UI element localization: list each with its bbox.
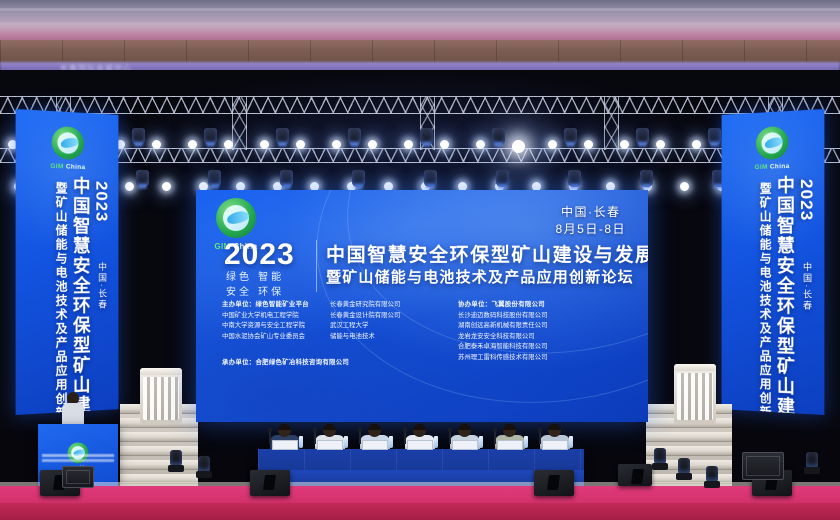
ceiling-beam [0, 8, 840, 11]
logo-text: GIM China [751, 162, 793, 171]
spotlight [260, 140, 269, 149]
spotlight [404, 140, 413, 149]
vertical-banner-left: GIM China 2023 中国智慧安全环保型矿山建设与发展大会 中国·长春 … [16, 109, 119, 415]
moving-head-light [276, 128, 289, 145]
co-organizer-item: 长沙迪迈数码科技股份有限公司 [458, 311, 547, 322]
spotlight [620, 140, 629, 149]
host-organizer-item: 储能与电池技术 [330, 332, 400, 343]
screen-slogan: 绿色 智能 安全 环保 [226, 270, 308, 300]
water-bottle [569, 436, 573, 448]
panelist-hair [278, 424, 291, 430]
moving-head-light [348, 128, 361, 145]
water-bottle [524, 436, 528, 448]
floor-moving-light [676, 458, 692, 480]
spotlight [584, 140, 593, 149]
equipment-flight-case [742, 452, 784, 480]
spotlight [692, 140, 701, 149]
spotlight [224, 140, 233, 149]
vertical-banner-right: GIM China 2023 中国智慧安全环保型矿山建设与发展大会 中国·长春 … [722, 109, 825, 415]
host-organizer-item: 长春黄金设计院有限公司 [330, 311, 400, 322]
panelist-hair [323, 424, 336, 430]
spotlight [368, 140, 377, 149]
logo-text: GIM China [47, 162, 89, 171]
floor-moving-light [652, 448, 668, 470]
host-label-line: 主办单位：绿色智能矿业平台 [222, 300, 309, 311]
screen-location-block: 中国·长春 8月5日-8日 [555, 204, 626, 238]
slogan-line-2: 安全 环保 [226, 285, 308, 300]
spotlight [440, 140, 449, 149]
screen-dates: 8月5日-8日 [555, 221, 626, 238]
nameplate [317, 440, 343, 450]
stage-monitor-speaker [250, 470, 290, 496]
stage-monitor-speaker [618, 464, 652, 486]
host-organizer-item: 长春黄金研究院有限公司 [330, 300, 400, 311]
screen-divider [316, 240, 317, 292]
spotlight [296, 140, 305, 149]
host-organizer-item: 中南大学资源与安全工程学院 [222, 321, 309, 332]
moving-head-light [492, 128, 505, 145]
gim-logo-banner-left: GIM China [47, 126, 89, 170]
water-bottle [389, 436, 393, 448]
stage-monitor-speaker [534, 470, 574, 496]
floor-moving-light [704, 466, 720, 488]
co-organizer-item: 湖南创远高新机械有限责任公司 [458, 321, 547, 332]
moving-head-light [136, 170, 149, 187]
slogan-line-1: 绿色 智能 [226, 270, 308, 285]
microphone [314, 430, 316, 444]
gim-logo-banner-right: GIM China [751, 126, 793, 170]
host-organizer-column: 主办单位：绿色智能矿业平台中国矿业大学机电工程学院中南大学资源与安全工程学院中国… [222, 300, 309, 342]
podium-title-line-1 [42, 454, 114, 457]
water-bottle [344, 436, 348, 448]
stage-carpet-front [0, 503, 840, 520]
main-led-screen: GIM China 中国·长春 8月5日-8日 2023 绿色 智能 安全 环保… [196, 190, 648, 422]
microphone [269, 430, 271, 444]
screen-location: 中国·长春 [555, 204, 626, 221]
host-organizer-item: 武汉工程大学 [330, 321, 400, 332]
spotlight [125, 182, 134, 191]
water-bottle [479, 436, 483, 448]
speaker-at-podium [62, 392, 84, 426]
organizer-line: 承办单位：合肥绿色矿冶科技咨询有限公司 [222, 358, 349, 369]
moving-head-light [640, 170, 653, 187]
co-organizer-item: 苏州理工雷科传感技术有限公司 [458, 353, 547, 364]
floor-moving-light [168, 450, 184, 472]
screen-year: 2023 [224, 238, 295, 272]
spotlight [332, 140, 341, 149]
nameplate [407, 440, 433, 450]
spotlight [656, 140, 665, 149]
co-organizer-label-line: 协办单位：飞翼股份有限公司 [458, 300, 547, 311]
water-bottle [299, 436, 303, 448]
banner-right-title-sub: 暨矿山储能与电池技术及产品应用创新论坛 [757, 182, 774, 415]
podium-title-line-2 [42, 459, 114, 462]
co-organizer-item: 龙岩龙安安全科技有限公司 [458, 332, 547, 343]
panelist-hair [548, 424, 561, 430]
host-organizer-item: 中国水泥协会矿山专业委员会 [222, 332, 309, 343]
logo-swoosh-icon [756, 126, 788, 160]
truss-vertical-post [604, 96, 619, 150]
nameplate [452, 440, 478, 450]
moving-head-light [708, 128, 721, 145]
banner-left-year: 2023 [91, 181, 110, 223]
moving-head-light [424, 170, 437, 187]
microphone [539, 430, 541, 444]
panelist-hair [503, 424, 516, 430]
microphone [404, 430, 406, 444]
co-organizer-column: 协办单位：飞翼股份有限公司长沙迪迈数码科技股份有限公司湖南创远高新机械有限责任公… [458, 300, 547, 363]
nameplate [272, 440, 298, 450]
truss-vertical-post [232, 96, 247, 150]
floor-moving-light [196, 456, 212, 478]
host-organizer-item: 中国矿业大学机电工程学院 [222, 311, 309, 322]
nameplate [362, 440, 388, 450]
organizer-row: 承办单位：合肥绿色矿冶科技咨询有限公司 [222, 358, 349, 369]
ceiling-beam [0, 22, 840, 25]
screen-title-sub: 暨矿山储能与电池技术及产品应用创新论坛 [326, 266, 634, 287]
panelist-hair [368, 424, 381, 430]
moving-head-light [208, 170, 221, 187]
panelist-hair [458, 424, 471, 430]
moving-head-light [568, 170, 581, 187]
spotlight [476, 140, 485, 149]
spotlight [680, 182, 689, 191]
banner-left-title-main: 中国智慧安全环保型矿山建设与发展大会 [68, 176, 93, 415]
moving-head-light [352, 170, 365, 187]
moving-head-light [636, 128, 649, 145]
venue-ceiling: 长春国际会展中心 [0, 0, 840, 78]
banner-right-location: 中国·长春 [801, 262, 814, 312]
water-bottle [434, 436, 438, 448]
moving-head-light [564, 128, 577, 145]
moving-head-light [204, 128, 217, 145]
banner-right-year: 2023 [796, 179, 816, 222]
lighting-truss-lower [0, 148, 840, 163]
microphone [494, 430, 496, 444]
spotlight [162, 182, 171, 191]
nameplate [497, 440, 523, 450]
logo-swoosh-icon [52, 126, 84, 160]
logo-swoosh-icon [216, 198, 256, 238]
moving-head-light [132, 128, 145, 145]
floor-moving-light [804, 452, 820, 474]
spotlight [152, 140, 161, 149]
moving-head-light [280, 170, 293, 187]
screen-title-main: 中国智慧安全环保型矿山建设与发展大会 [326, 240, 648, 267]
microphone [449, 430, 451, 444]
moving-head-light [420, 128, 433, 145]
panelist-hair [413, 424, 426, 430]
host-organizer-column-2: 长春黄金研究院有限公司长春黄金设计院有限公司武汉工程大学储能与电池技术 [330, 300, 400, 342]
spotlight [548, 140, 557, 149]
balustrade-right [674, 364, 716, 424]
banner-left-title-sub: 暨矿山储能与电池技术及产品应用创新论坛 [53, 182, 70, 415]
spotlight [188, 140, 197, 149]
banner-right-title-main: 中国智慧安全环保型矿山建设与发展大会 [772, 175, 798, 415]
conference-stage-photo: 长春国际会展中心 GIM China 2023 中国智慧安全环保型矿山建设与发展… [0, 0, 840, 520]
moving-head-light [496, 170, 509, 187]
co-organizer-item: 合肥泰禾卓海智能科技有限公司 [458, 342, 547, 353]
nameplate [542, 440, 568, 450]
banner-left-location: 中国·长春 [96, 262, 109, 310]
microphone [359, 430, 361, 444]
equipment-flight-case [62, 466, 94, 488]
ceiling-wood-panel [0, 40, 840, 62]
balustrade-left [140, 368, 182, 424]
spotlight [512, 140, 525, 153]
